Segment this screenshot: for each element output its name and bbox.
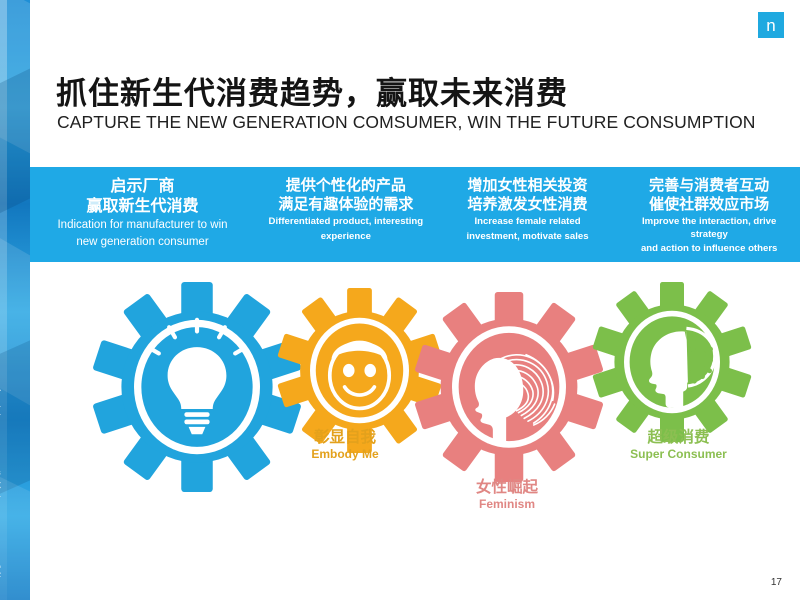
banner-column-3: 增加女性相关投资 培养激发女性消费 Increase female relate…: [437, 167, 619, 262]
woman-profile-icon: [414, 292, 604, 482]
gear-label-zh: 女性崛起: [442, 478, 572, 497]
gear-blue-lightbulb: [92, 282, 302, 492]
gear-label-embody-me: 彰显自我 Embody Me: [280, 428, 410, 462]
banner-en-line2: new generation consumer: [36, 235, 249, 250]
copyright-text: Copyright © 2017 The Nielsen Company (US…: [0, 284, 2, 584]
left-decorative-ribbon: Copyright © 2017 The Nielsen Company (US…: [0, 0, 30, 600]
banner-en-line2: investment, motivate sales: [443, 231, 613, 244]
banner-zh-line1: 提供个性化的产品: [261, 176, 431, 195]
gear-label-en: Embody Me: [280, 447, 410, 462]
banner-en-line1: Increase female related: [443, 216, 613, 229]
brain-head-icon: [592, 282, 752, 442]
gear-pink-feminism: [414, 292, 604, 482]
banner-zh-line2: 催使社群效应市场: [624, 195, 794, 214]
banner-zh-line2: 赢取新生代消费: [36, 196, 249, 216]
nielsen-logo-letter: n: [766, 17, 775, 34]
ribbon-shard: [0, 335, 30, 500]
banner-zh-line2: 培养激发女性消费: [443, 195, 613, 214]
banner-en-line1: Indication for manufacturer to win: [36, 218, 249, 233]
banner-en-line2: and action to influence others: [624, 243, 794, 256]
banner-en-line1: Differentiated product, interesting: [261, 216, 431, 229]
gear-label-en: Super Consumer: [596, 447, 761, 462]
ribbon-shard: [0, 63, 30, 220]
ribbon-shard: [0, 470, 30, 600]
banner-zh-line1: 完善与消费者互动: [624, 176, 794, 195]
banner-en-line2: experience: [261, 231, 431, 244]
page-title-en: CAPTURE THE NEW GENERATION COMSUMER, WIN…: [57, 112, 756, 133]
banner-column-2: 提供个性化的产品 满足有趣体验的需求 Differentiated produc…: [255, 167, 437, 262]
banner-zh-line1: 增加女性相关投资: [443, 176, 613, 195]
takeaway-banner: 启示厂商 赢取新生代消费 Indication for manufacturer…: [30, 167, 800, 262]
banner-zh-line1: 启示厂商: [36, 176, 249, 196]
lightbulb-icon: [92, 282, 302, 492]
nielsen-logo: n: [758, 12, 784, 38]
banner-column-4: 完善与消费者互动 催使社群效应市场 Improve the interactio…: [618, 167, 800, 262]
gear-green-super-consumer: [592, 282, 752, 442]
banner-zh-line2: 满足有趣体验的需求: [261, 195, 431, 214]
banner-column-1: 启示厂商 赢取新生代消费 Indication for manufacturer…: [30, 167, 255, 262]
gear-label-en: Feminism: [442, 497, 572, 512]
gear-label-zh: 彰显自我: [280, 428, 410, 447]
page-number: 17: [771, 577, 782, 588]
page-title-zh: 抓住新生代消费趋势，赢取未来消费: [56, 68, 568, 113]
gear-label-super-consumer: 超级消费 Super Consumer: [596, 428, 761, 462]
gear-label-feminism: 女性崛起 Feminism: [442, 478, 572, 512]
gear-label-zh: 超级消费: [596, 428, 761, 447]
slide-canvas: Copyright © 2017 The Nielsen Company (US…: [0, 0, 800, 600]
banner-en-line1: Improve the interaction, drive strategy: [624, 216, 794, 241]
